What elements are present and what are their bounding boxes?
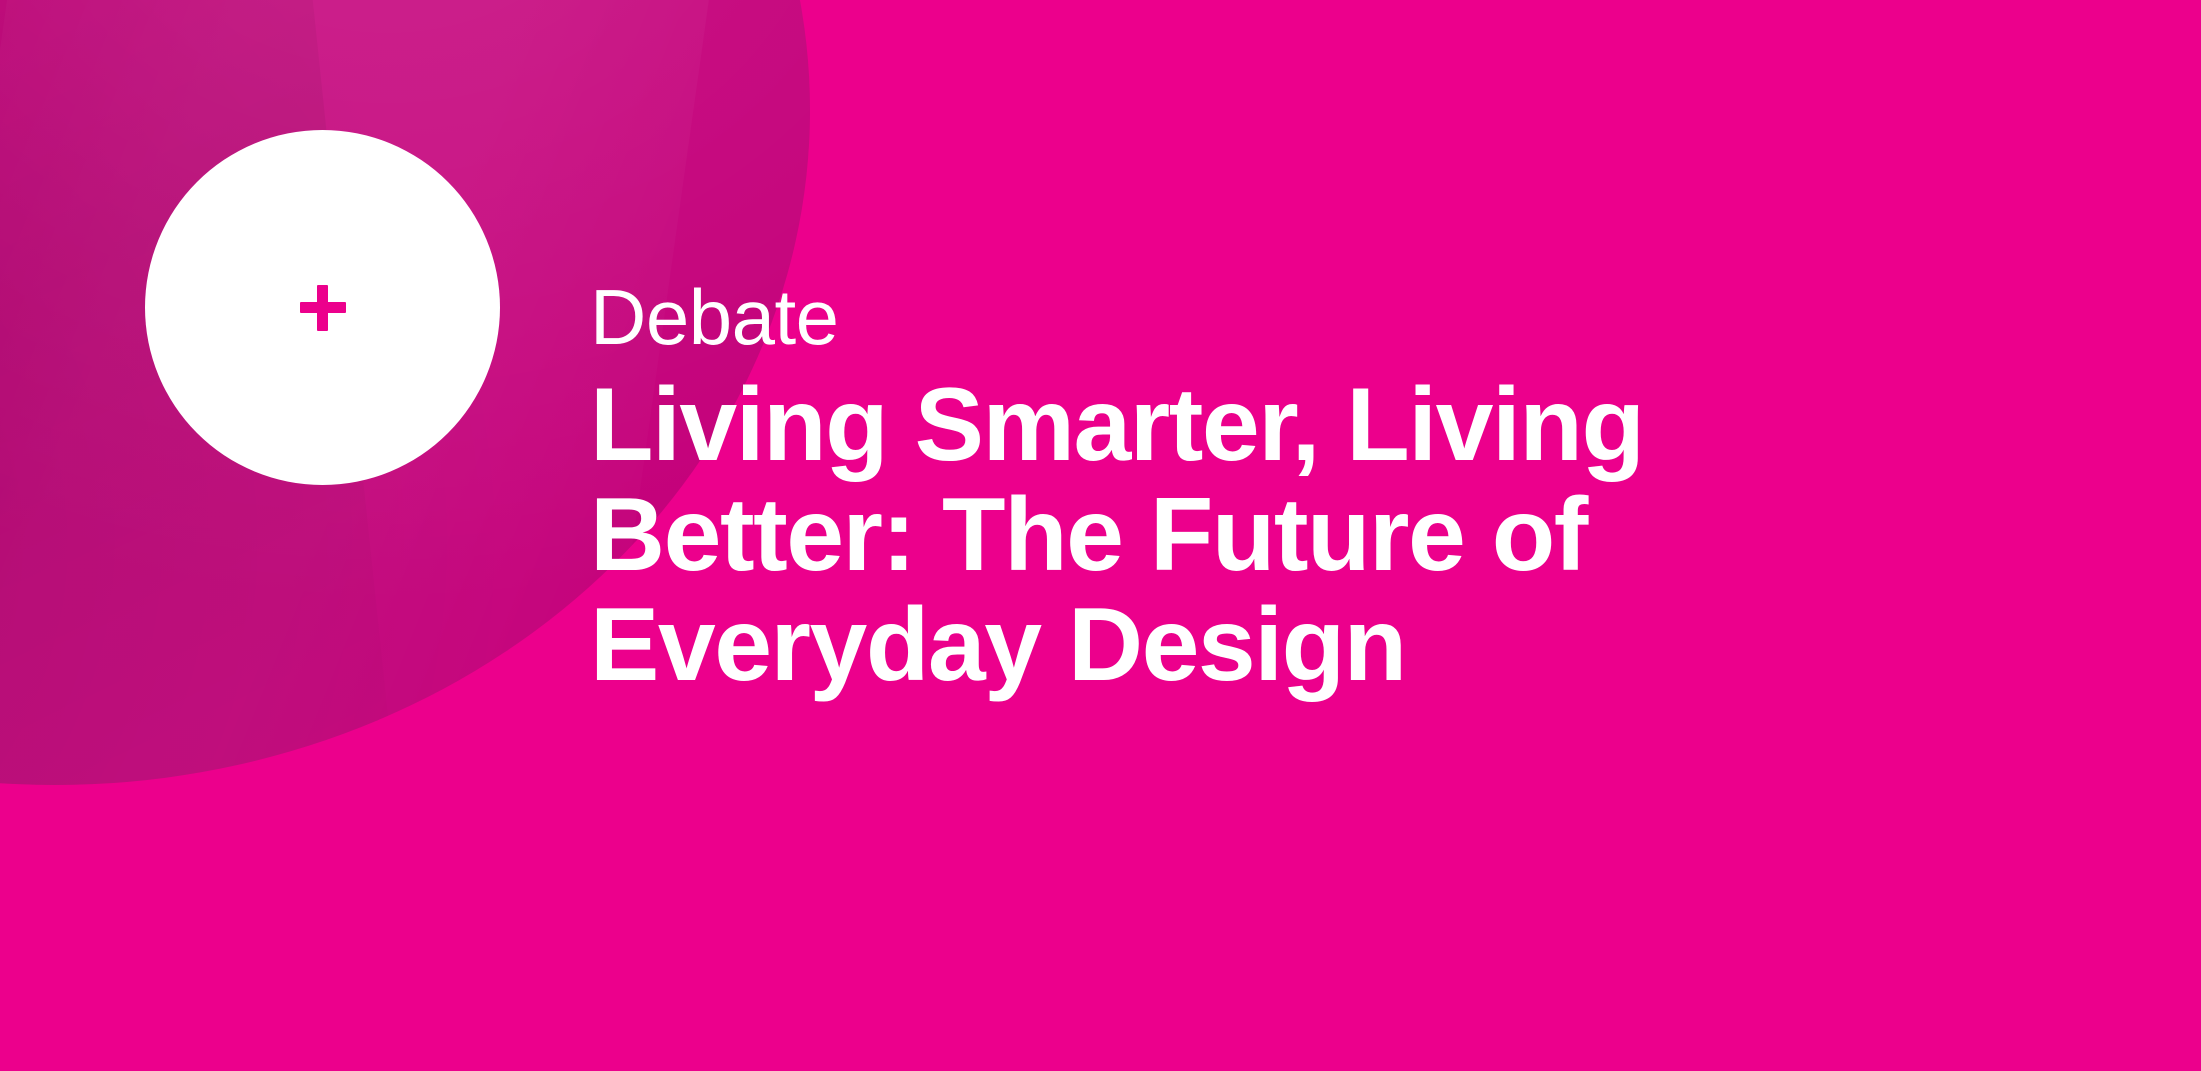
text-block: Debate Living Smarter, Living Better: Th… bbox=[590, 278, 1800, 701]
page-title: Living Smarter, Living Better: The Futur… bbox=[590, 370, 1800, 701]
promo-card: Debate Living Smarter, Living Better: Th… bbox=[0, 0, 2201, 1071]
category-label: Debate bbox=[590, 278, 1800, 356]
plus-icon[interactable] bbox=[300, 285, 346, 331]
avatar[interactable] bbox=[145, 130, 500, 485]
